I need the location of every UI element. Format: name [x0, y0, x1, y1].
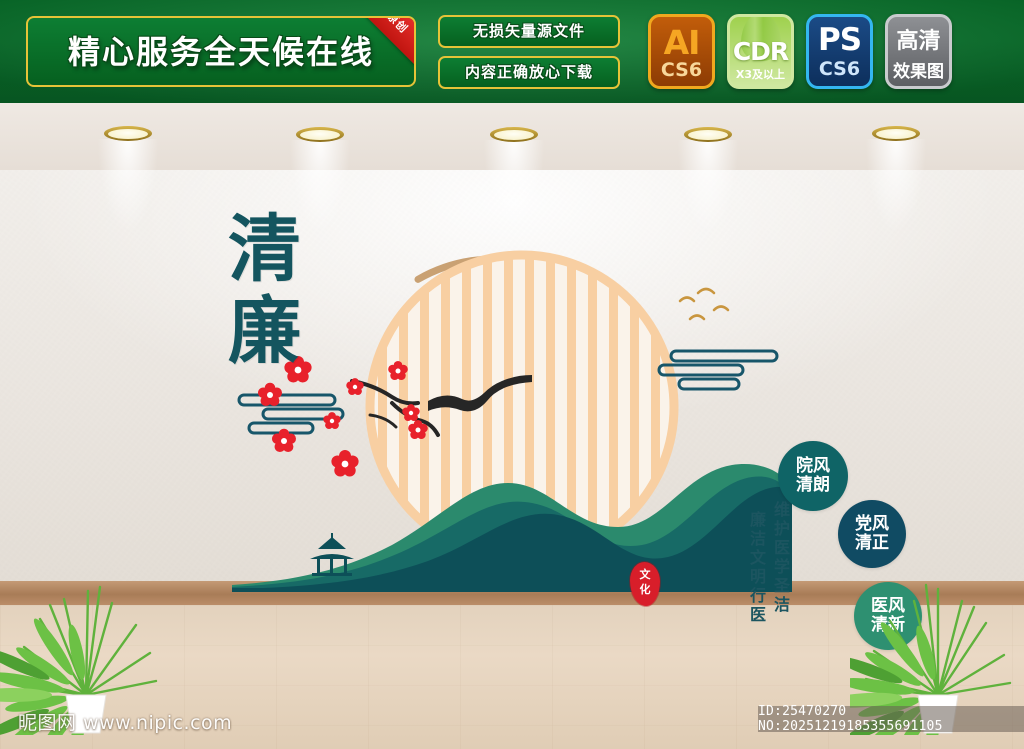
feature-pill-vector[interactable]: 无损矢量源文件 — [438, 15, 620, 48]
ai-badge-version: CS6 — [651, 59, 712, 81]
spotlight-1 — [104, 126, 152, 142]
site-watermark: 昵图网 www.nipic.com — [18, 708, 232, 735]
ps-badge-title: PS — [809, 22, 870, 58]
spotlight-lens-icon — [688, 130, 728, 140]
flying-birds-icon — [680, 289, 728, 319]
cdr-badge-version: X3及以上 — [730, 66, 791, 82]
spotlight-lens-icon — [108, 129, 148, 139]
hd-badge-title: 高清 — [888, 23, 949, 55]
ps-badge-version: CS6 — [809, 58, 870, 80]
ai-badge[interactable]: AI CS6 — [648, 14, 715, 89]
feature-pill-download[interactable]: 内容正确放心下载 — [438, 56, 620, 89]
vertical-slogan-2: 廉洁文明行医 — [744, 511, 768, 625]
screenshot-root: 精心服务全天候在线 原创 无损矢量源文件 内容正确放心下载 AI CS6 CDR… — [0, 0, 1024, 749]
main-title-char-2: 廉 — [228, 295, 301, 368]
feature-pill-group: 无损矢量源文件 内容正确放心下载 — [438, 15, 620, 89]
seal-char-2: 化 — [630, 584, 660, 596]
hd-badge-subtitle: 效果图 — [888, 57, 949, 82]
spotlight-2 — [296, 127, 344, 143]
cloud-motif-right — [659, 351, 777, 389]
ps-badge[interactable]: PS CS6 — [806, 14, 873, 89]
seal-char-1: 文 — [630, 569, 660, 581]
artwork-svg — [232, 215, 792, 635]
room-mockup: 清 廉 文 化 维护医学圣洁 廉洁文明行医 院风 清朗 党风 — [0, 103, 1024, 749]
bubble-yuanfeng-line1: 院风 — [796, 457, 830, 476]
hd-badge[interactable]: 高清 效果图 — [885, 14, 952, 89]
vertical-slogan-1: 维护医学圣洁 — [768, 501, 792, 615]
cdr-badge-title: CDR — [730, 37, 791, 66]
bubble-dangfeng-line1: 党风 — [855, 515, 889, 534]
spotlight-5 — [872, 126, 920, 142]
ai-badge-title: AI — [651, 23, 712, 62]
mountain-range — [232, 464, 792, 592]
spotlight-lens-icon — [876, 129, 916, 139]
cdr-badge[interactable]: CDR X3及以上 — [727, 14, 794, 89]
spotlight-lens-icon — [300, 130, 340, 140]
spotlight-3 — [490, 127, 538, 143]
culture-seal: 文 化 — [630, 562, 660, 606]
wall-culture-artwork: 清 廉 文 化 维护医学圣洁 廉洁文明行医 院风 清朗 党风 — [232, 215, 792, 635]
hero-banner[interactable]: 精心服务全天候在线 原创 — [26, 16, 416, 87]
promo-topbar: 精心服务全天候在线 原创 无损矢量源文件 内容正确放心下载 AI CS6 CDR… — [0, 0, 1024, 103]
bubble-yuanfeng-line2: 清朗 — [796, 476, 830, 495]
bubble-yuanfeng[interactable]: 院风 清朗 — [778, 441, 848, 511]
asset-id-bar: ID:25470270 NO:20251219185355691105 — [758, 706, 1024, 732]
spotlight-lens-icon — [494, 130, 534, 140]
spotlight-4 — [684, 127, 732, 143]
hero-banner-text: 精心服务全天候在线 — [28, 36, 414, 68]
main-title-char-1: 清 — [228, 213, 301, 286]
